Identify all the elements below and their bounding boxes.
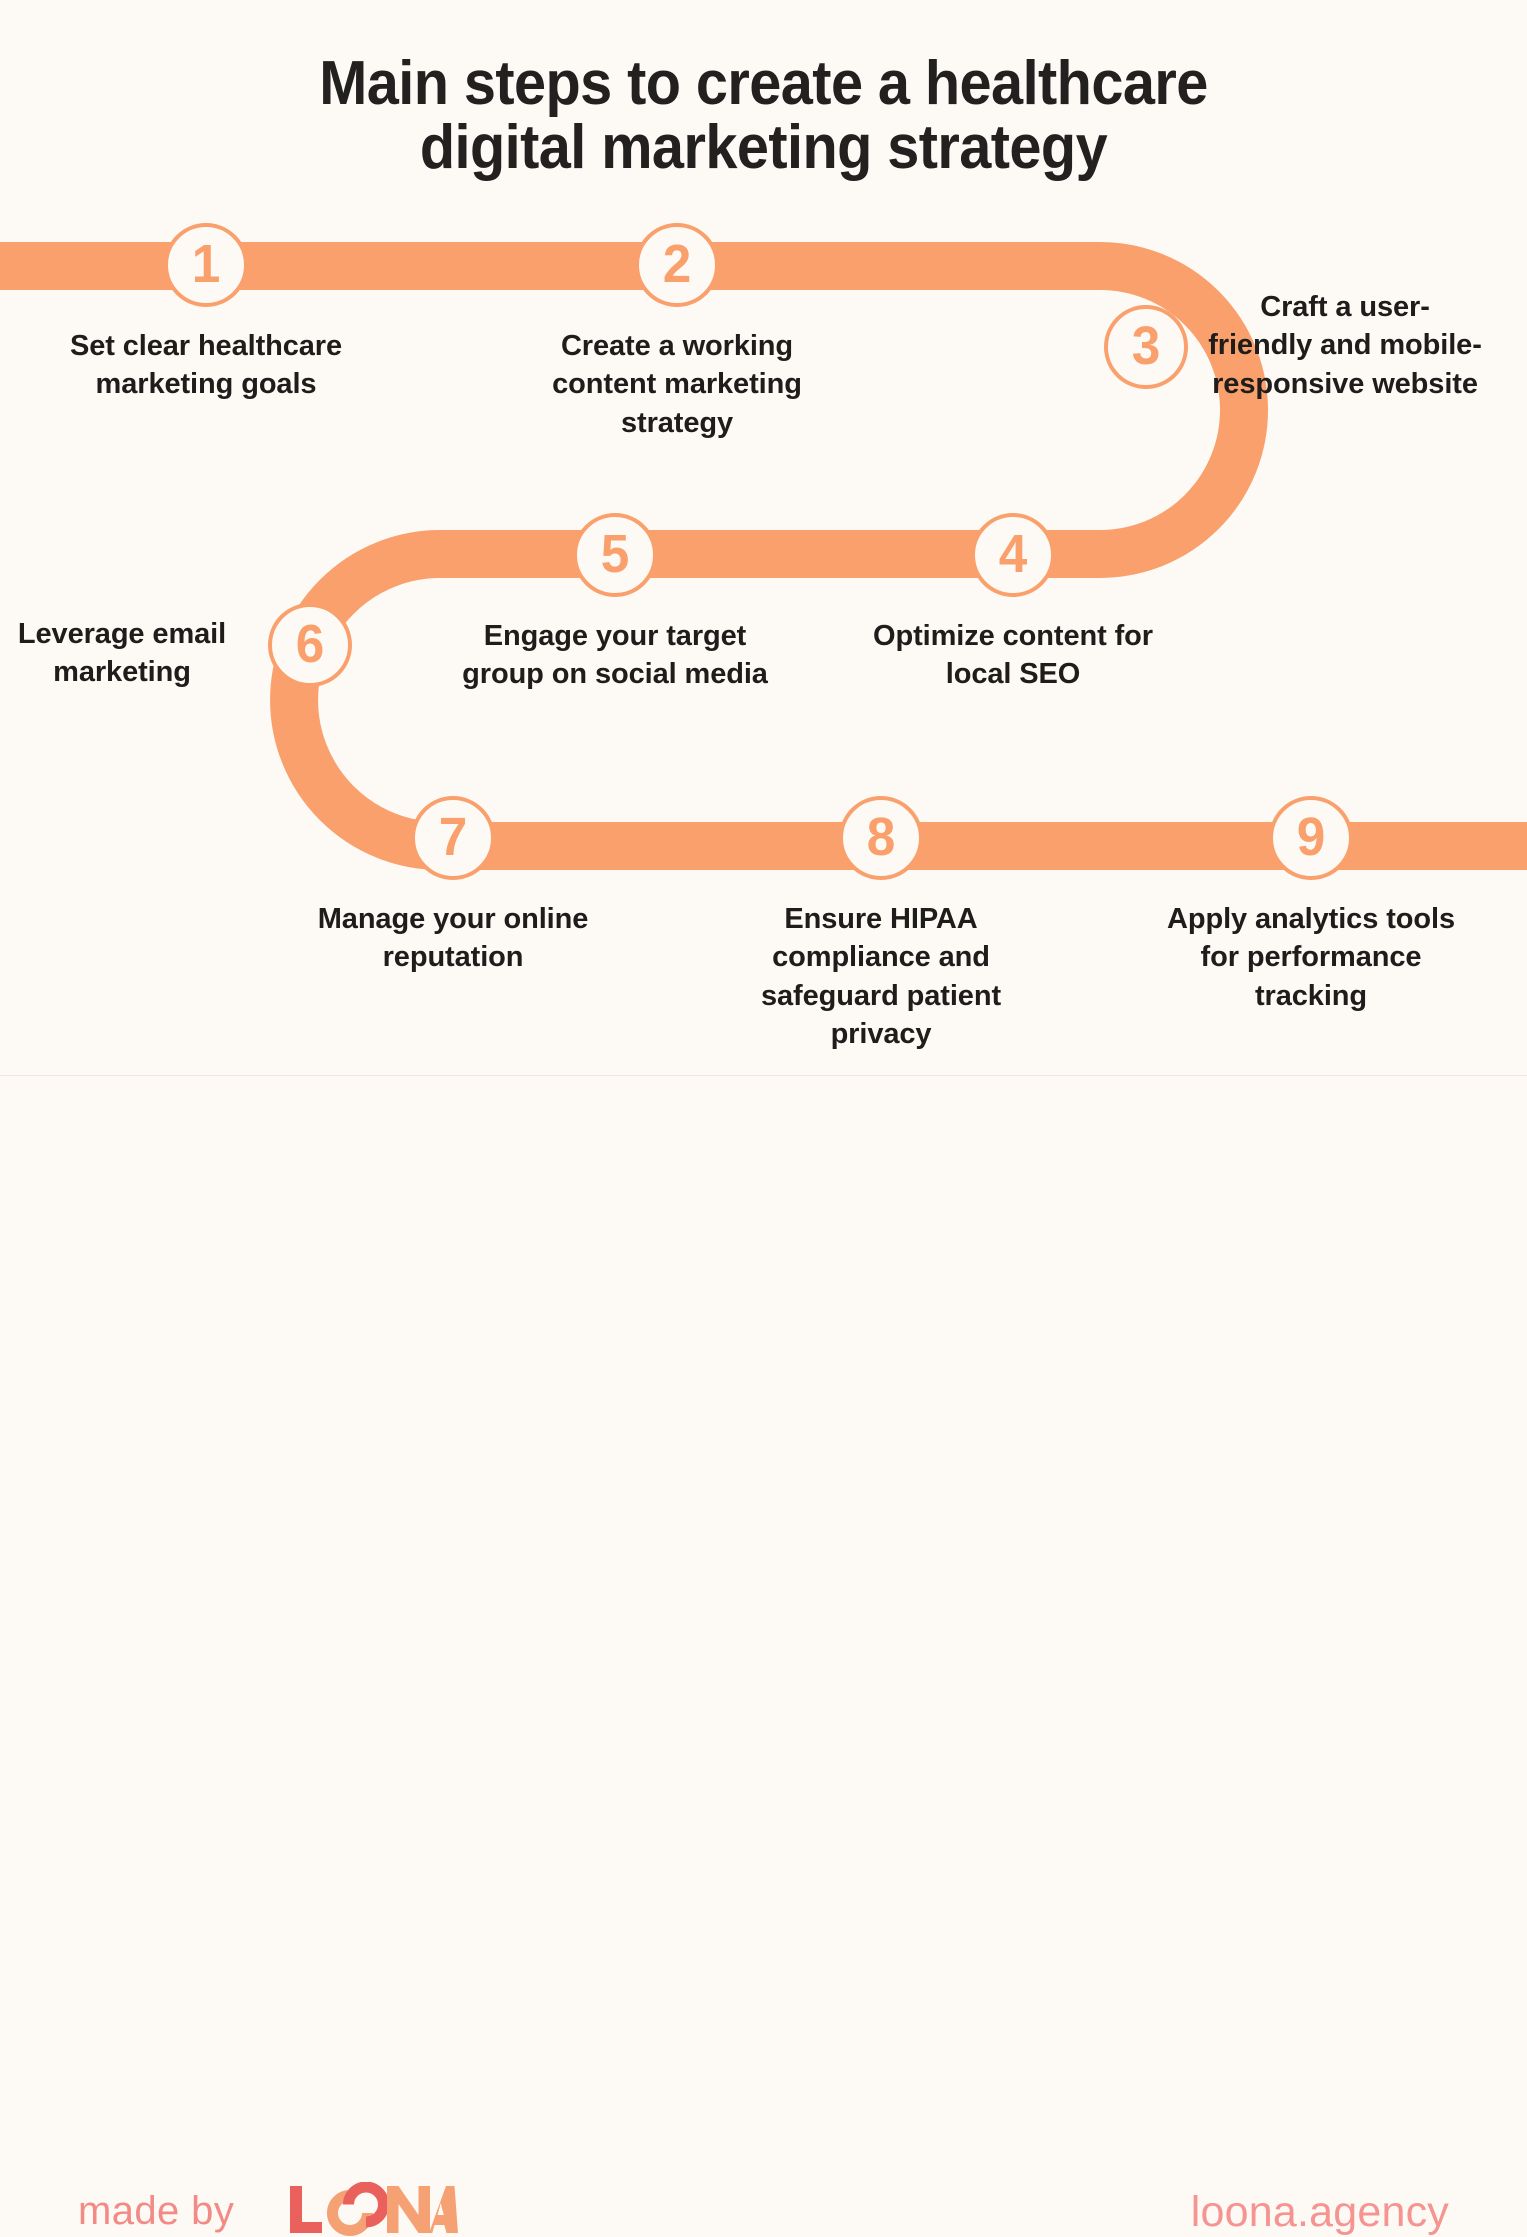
step-circle-7[interactable]: 7	[411, 796, 495, 880]
step-label-1: Set clear healthcare marketing goals	[36, 327, 376, 404]
page-title: Main steps to create a healthcare digita…	[53, 52, 1473, 181]
step-label-4: Optimize content for local SEO	[843, 617, 1183, 694]
infographic-canvas: Main steps to create a healthcare digita…	[0, 0, 1527, 1200]
logo-letter-n-icon	[387, 2186, 430, 2233]
step-number-5: 5	[601, 527, 630, 581]
step-label-6: Leverage email marketing	[0, 615, 272, 692]
logo-letter-a-icon	[429, 2186, 458, 2233]
step-circle-6[interactable]: 6	[268, 603, 352, 687]
step-circle-3[interactable]: 3	[1104, 305, 1188, 389]
step-circle-8[interactable]: 8	[839, 796, 923, 880]
step-number-9: 9	[1297, 810, 1326, 864]
site-url[interactable]: loona.agency	[1191, 2188, 1449, 2237]
step-number-1: 1	[192, 237, 221, 291]
step-number-2: 2	[663, 237, 692, 291]
step-number-8: 8	[867, 810, 896, 864]
made-by-label: made by	[78, 2189, 234, 2234]
step-label-2: Create a working content marketing strat…	[507, 327, 847, 442]
step-label-7: Manage your online reputation	[283, 900, 623, 977]
loona-logo-mark	[288, 2182, 458, 2236]
step-number-6: 6	[296, 617, 325, 671]
step-number-4: 4	[999, 527, 1028, 581]
footer: made by loona.agency	[0, 1076, 1527, 1200]
step-circle-5[interactable]: 5	[573, 513, 657, 597]
step-circle-4[interactable]: 4	[971, 513, 1055, 597]
step-number-3: 3	[1132, 319, 1161, 373]
step-circle-1[interactable]: 1	[164, 223, 248, 307]
step-label-5: Engage your target group on social media	[445, 617, 785, 694]
loona-logo[interactable]	[288, 2183, 458, 2235]
logo-arc-red-icon	[349, 2187, 384, 2222]
step-label-9: Apply analytics tools for performance tr…	[1141, 900, 1481, 1015]
step-circle-9[interactable]: 9	[1269, 796, 1353, 880]
step-label-3: Craft a user- friendly and mobile- respo…	[1200, 288, 1490, 403]
logo-letter-l-icon	[290, 2186, 322, 2233]
step-label-8: Ensure HIPAA compliance and safeguard pa…	[711, 900, 1051, 1053]
step-number-7: 7	[439, 810, 468, 864]
step-circle-2[interactable]: 2	[635, 223, 719, 307]
